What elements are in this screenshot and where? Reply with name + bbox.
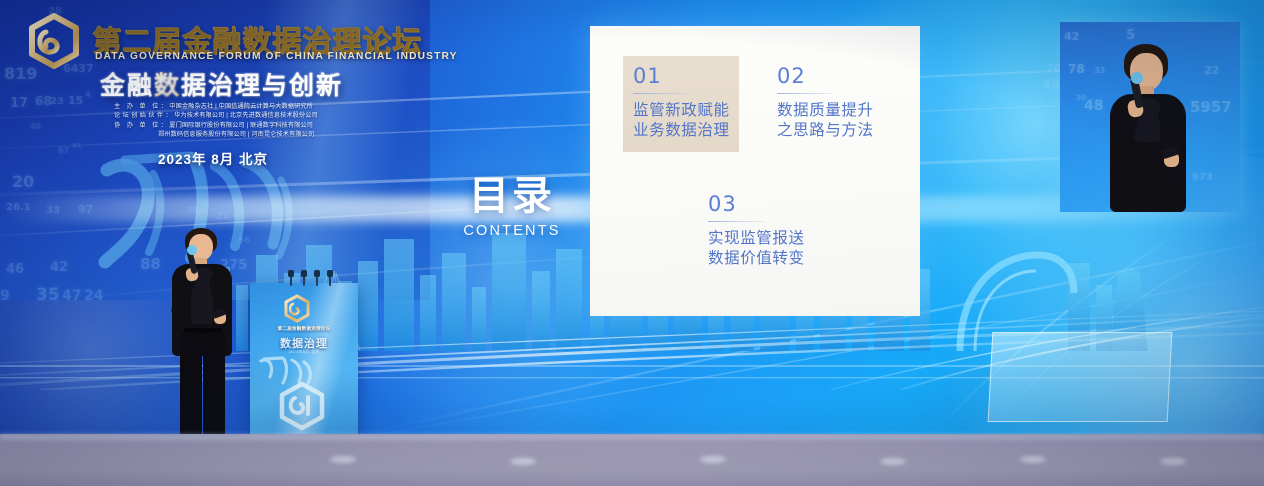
banner-date-location: 2023年 8月 北京 bbox=[158, 148, 268, 168]
pip-numeral: 22 bbox=[1204, 64, 1219, 77]
pip-numeral: 30 bbox=[1076, 94, 1086, 102]
microphone-head-icon bbox=[187, 245, 197, 255]
hexagon-forum-logo-icon bbox=[24, 12, 84, 70]
contents-heading: 目录 CONTENTS bbox=[452, 176, 572, 239]
toc-divider bbox=[633, 93, 690, 94]
floor-reflection bbox=[330, 456, 356, 463]
hexagon-outline-icon bbox=[276, 381, 328, 431]
theme-part-accent: 数 bbox=[154, 72, 181, 100]
organizer-line: 协 办 单 位：厦门国际银行股份有限公司 | 联通数字科技有限公司 bbox=[114, 121, 414, 130]
pip-speaker-figure bbox=[1100, 44, 1204, 212]
glass-lectern-panel bbox=[988, 332, 1173, 422]
floor-reflection bbox=[510, 458, 536, 465]
pip-numeral: 78 bbox=[1068, 62, 1085, 76]
camera-feed-inset: 42578332248305957973 bbox=[1060, 22, 1240, 212]
pip-numeral: 42 bbox=[1064, 30, 1079, 43]
floor-reflection bbox=[1160, 458, 1186, 465]
hexagon-forum-logo-icon bbox=[282, 294, 312, 323]
presentation-slide: 01 监管新政赋能 业务数据治理 02 数据质量提升 之思路与方法 03 实现监… bbox=[590, 26, 920, 316]
floor-reflection bbox=[1020, 456, 1046, 463]
banner-theme: 金融数据治理与创新 bbox=[100, 66, 343, 102]
organizer-label: 协 办 单 位： bbox=[114, 122, 169, 129]
toc-number: 01 bbox=[633, 66, 730, 87]
organizer-line: 主 办 单 位：中国金融杂志社 | 中国信通院云计算与大数据研究所 bbox=[114, 102, 414, 111]
contents-title-cn: 目录 bbox=[452, 176, 572, 216]
theme-part-pre: 金融 bbox=[100, 72, 154, 100]
stage-floor bbox=[0, 434, 1264, 486]
toc-number: 02 bbox=[777, 66, 874, 87]
theme-part-post: 据治理与创新 bbox=[181, 72, 343, 100]
podium-title: 第二届金融数据治理论坛 bbox=[258, 326, 350, 332]
microphone-head-icon bbox=[1131, 72, 1143, 84]
toc-divider bbox=[777, 93, 834, 94]
organizer-label: 论坛创始伙伴： bbox=[114, 112, 174, 119]
toc-item-01[interactable]: 01 监管新政赋能 业务数据治理 bbox=[623, 56, 739, 152]
toc-item-02[interactable]: 02 数据质量提升 之思路与方法 bbox=[777, 66, 874, 141]
toc-line-1: 实现监管报送 bbox=[708, 229, 805, 249]
pip-numeral: 5 bbox=[1126, 28, 1135, 43]
organizer-value: 中国金融杂志社 | 中国信通院云计算与大数据研究所 bbox=[169, 103, 313, 110]
microphone-icon bbox=[314, 270, 320, 277]
podium-microphones bbox=[286, 270, 338, 286]
stage-scene: 8196437281768231544667412026.13397464293… bbox=[0, 0, 1264, 486]
toc-line-1: 监管新政赋能 bbox=[633, 101, 730, 121]
banner-subtitle-en: DATA GOVERNANCE FORUM OF CHINA FINANCIAL… bbox=[95, 51, 458, 62]
organizer-line: 论坛创始伙伴：华为技术有限公司 | 北京先进数通信息技术股份公司 bbox=[114, 111, 414, 120]
organizer-line: 郑州数码信息服务股份有限公司 | 河南昆仑技术有限公司 bbox=[114, 130, 414, 139]
slide-content: 01 监管新政赋能 业务数据治理 02 数据质量提升 之思路与方法 03 实现监… bbox=[590, 26, 920, 316]
microphone-icon bbox=[288, 270, 294, 277]
forum-banner: 第二届金融数据治理论坛 DATA GOVERNANCE FORUM OF CHI… bbox=[18, 8, 418, 170]
toc-number: 03 bbox=[708, 194, 805, 215]
toc-line-2: 数据价值转变 bbox=[708, 249, 805, 269]
organizer-value: 厦门国际银行股份有限公司 | 联通数字科技有限公司 bbox=[169, 122, 313, 129]
organizer-label: 主 办 单 位： bbox=[114, 103, 169, 110]
organizer-value: 郑州数码信息服务股份有限公司 | 河南昆仑技术有限公司 bbox=[158, 131, 314, 138]
floor-reflection bbox=[880, 458, 906, 465]
toc-line-2: 业务数据治理 bbox=[633, 121, 730, 141]
background-numeral: 48 bbox=[1042, 78, 1060, 93]
toc-line-1: 数据质量提升 bbox=[777, 101, 874, 121]
organizer-list: 主 办 单 位：中国金融杂志社 | 中国信通院云计算与大数据研究所论坛创始伙伴：… bbox=[114, 102, 414, 140]
organizer-value: 华为技术有限公司 | 北京先进数通信息技术股份公司 bbox=[174, 112, 318, 119]
microphone-icon bbox=[327, 270, 333, 277]
toc-line-2: 之思路与方法 bbox=[777, 121, 874, 141]
toc-divider bbox=[708, 221, 765, 222]
toc-item-03[interactable]: 03 实现监管报送 数据价值转变 bbox=[708, 194, 805, 269]
contents-title-en: CONTENTS bbox=[452, 223, 572, 239]
microphone-icon bbox=[301, 270, 307, 277]
floor-reflection bbox=[700, 456, 726, 463]
